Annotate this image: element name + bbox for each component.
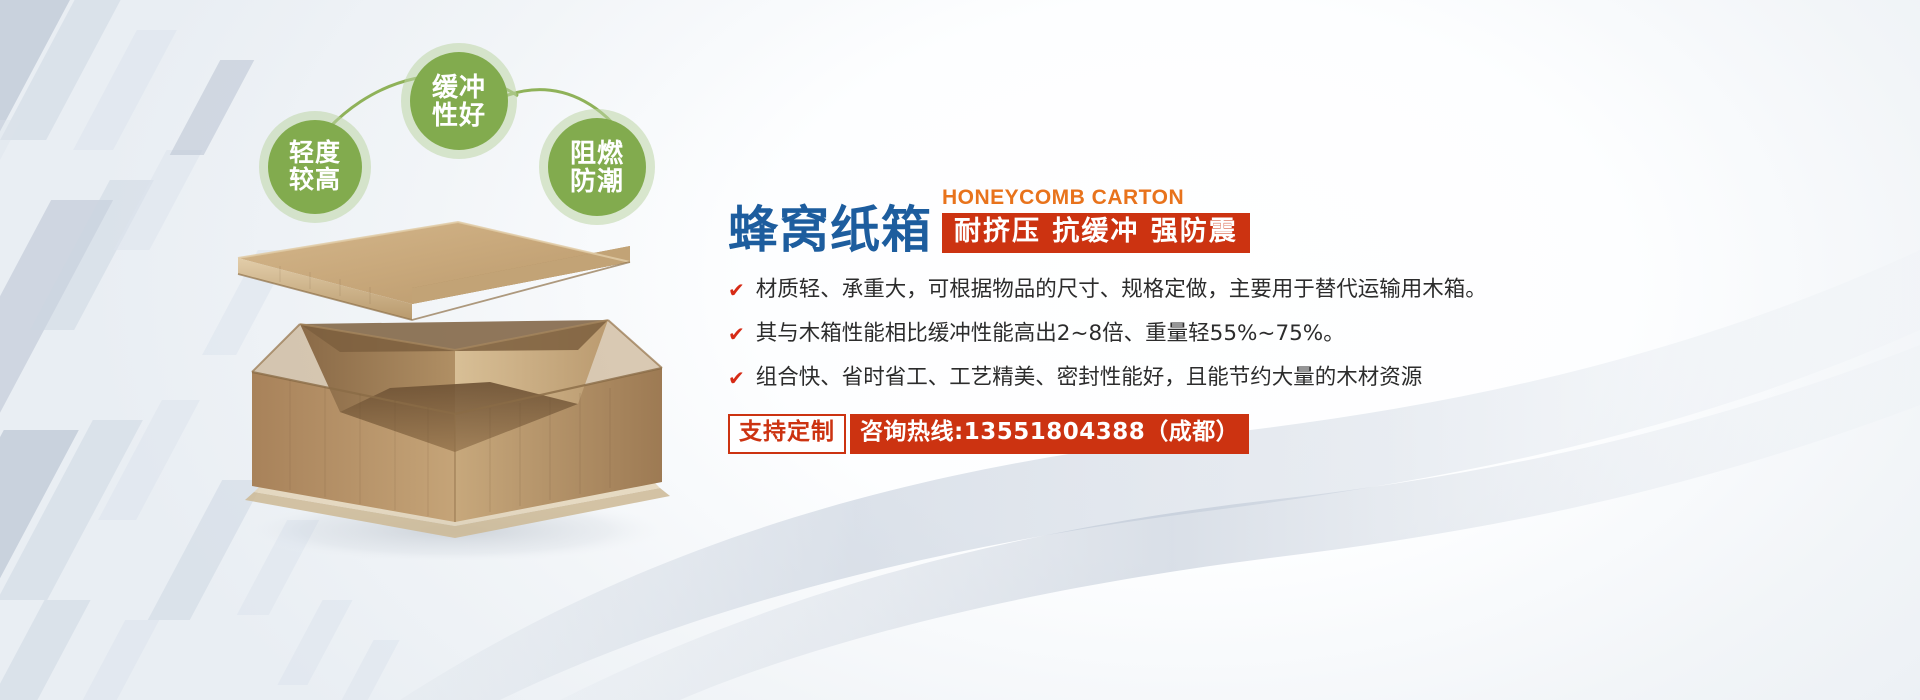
slogan-badge: 耐挤压 抗缓冲 强防震 bbox=[942, 213, 1250, 253]
bullet-text: 组合快、省时省工、工艺精美、密封性能好，且能节约大量的木材资源 bbox=[756, 365, 1423, 392]
list-item: ✔ 其与木箱性能相比缓冲性能高出2~8倍、重量轻55%~75%。 bbox=[728, 321, 1848, 348]
feature-circle-3-line2: 防潮 bbox=[570, 167, 624, 195]
bullet-text: 其与木箱性能相比缓冲性能高出2~8倍、重量轻55%~75%。 bbox=[756, 321, 1345, 348]
list-item: ✔ 组合快、省时省工、工艺精美、密封性能好，且能节约大量的木材资源 bbox=[728, 365, 1848, 392]
english-subtitle: HONEYCOMB CARTON bbox=[942, 186, 1250, 210]
promo-banner: 轻度 较高 缓冲 性好 阻燃 防潮 bbox=[0, 0, 1920, 700]
list-item: ✔ 材质轻、承重大，可根据物品的尺寸、规格定做，主要用于替代运输用木箱。 bbox=[728, 277, 1848, 304]
check-icon: ✔ bbox=[728, 365, 745, 391]
feature-circle-2-line1: 缓冲 bbox=[432, 73, 486, 101]
feature-bullet-list: ✔ 材质轻、承重大，可根据物品的尺寸、规格定做，主要用于替代运输用木箱。 ✔ 其… bbox=[728, 277, 1848, 392]
feature-circle-2: 缓冲 性好 bbox=[410, 52, 508, 150]
feature-circle-1-line2: 较高 bbox=[289, 167, 341, 194]
feature-circle-3-line1: 阻燃 bbox=[570, 139, 624, 167]
check-icon: ✔ bbox=[728, 321, 745, 347]
check-icon: ✔ bbox=[728, 277, 745, 303]
page-title: 蜂窝纸箱 bbox=[728, 205, 932, 255]
feature-circle-2-line2: 性好 bbox=[432, 101, 486, 129]
bullet-text: 材质轻、承重大，可根据物品的尺寸、规格定做，主要用于替代运输用木箱。 bbox=[756, 277, 1487, 304]
honeycomb-carton-photo bbox=[190, 200, 710, 560]
contact-bar[interactable]: 支持定制 咨询热线:13551804388（成都） bbox=[728, 414, 1249, 454]
headline-row: 蜂窝纸箱 HONEYCOMB CARTON 耐挤压 抗缓冲 强防震 bbox=[728, 186, 1848, 255]
hotline-text[interactable]: 咨询热线:13551804388（成都） bbox=[850, 414, 1249, 454]
banner-content: 蜂窝纸箱 HONEYCOMB CARTON 耐挤压 抗缓冲 强防震 ✔ 材质轻、… bbox=[728, 186, 1848, 454]
headline-subblock: HONEYCOMB CARTON 耐挤压 抗缓冲 强防震 bbox=[942, 186, 1250, 255]
feature-circle-1-line1: 轻度 bbox=[289, 140, 341, 167]
custom-order-tag: 支持定制 bbox=[728, 414, 846, 454]
